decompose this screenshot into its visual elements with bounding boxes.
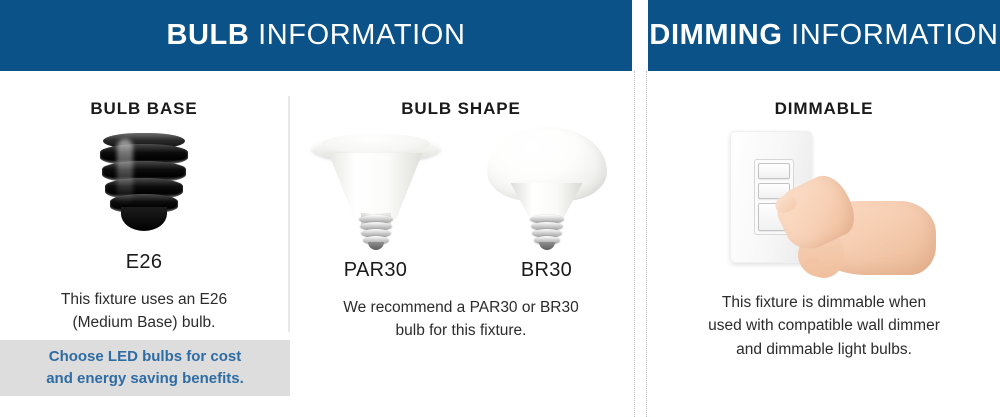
led-callout-line1: Choose LED bulbs for cost (20, 346, 270, 368)
par30-label: PAR30 (290, 259, 461, 282)
bulb-shape-description-line2: bulb for this fixture. (311, 319, 611, 342)
led-callout-line2: and energy saving benefits. (20, 368, 270, 390)
bulb-information-title-rest: INFORMATION (249, 19, 465, 51)
e26-screw-base-icon (0, 127, 288, 247)
bulb-base-description: This fixture uses an E26 (Medium Base) b… (24, 288, 264, 335)
bulb-information-title-strong: BULB (166, 19, 249, 51)
dimming-information-title-strong: DIMMING (649, 19, 782, 51)
bulb-shape-description: We recommend a PAR30 or BR30 bulb for th… (311, 296, 611, 343)
panel-separator-right (646, 71, 647, 417)
bulb-shape-heading: BULB SHAPE (290, 99, 632, 119)
bulb-base-description-line1: This fixture uses an E26 (24, 288, 264, 311)
bulb-base-label: E26 (0, 251, 288, 274)
bulb-base-description-line2: (Medium Base) bulb. (24, 311, 264, 334)
bulb-base-heading: BULB BASE (0, 99, 288, 119)
dimmable-description-line3: and dimmable light bulbs. (674, 338, 974, 361)
br30-bulb-icon (487, 127, 607, 253)
bulb-information-panel: BULB INFORMATION BULB BASE E26 This fixt… (0, 0, 632, 417)
br30-label: BR30 (461, 259, 632, 282)
dimmer-button-top[interactable] (758, 163, 790, 179)
bulb-shape-column: BULB SHAPE (290, 71, 632, 343)
dimmable-description-line2: used with compatible wall dimmer (674, 314, 974, 337)
bulb-information-title: BULB INFORMATION (166, 19, 465, 52)
bulb-base-column: BULB BASE E26 This fixture uses an E26 (… (0, 71, 288, 335)
hand-icon (776, 181, 936, 277)
dimming-information-header: DIMMING INFORMATION (648, 0, 1000, 71)
dimmable-column: DIMMABLE This fixture is dimmable when u… (648, 71, 1000, 361)
dimmable-description-line1: This fixture is dimmable when (674, 291, 974, 314)
led-callout-text: Choose LED bulbs for cost and energy sav… (20, 346, 270, 390)
par30-bulb-icon (311, 127, 441, 253)
bulb-shape-labels: PAR30 BR30 (290, 255, 632, 282)
dimmable-description: This fixture is dimmable when used with … (674, 291, 974, 361)
dimming-information-title-rest: INFORMATION (782, 19, 998, 51)
dimmable-heading: DIMMABLE (648, 99, 1000, 119)
bulb-shape-description-line1: We recommend a PAR30 or BR30 (311, 296, 611, 319)
dimming-information-title: DIMMING INFORMATION (649, 19, 998, 52)
wall-dimmer-switch-icon (648, 125, 1000, 277)
panel-separator-left (634, 71, 635, 417)
dimming-information-panel: DIMMING INFORMATION DIMMABLE This fixtur… (648, 0, 1000, 417)
bulb-shape-images (290, 123, 632, 253)
bulb-information-header: BULB INFORMATION (0, 0, 632, 71)
led-callout-box: Choose LED bulbs for cost and energy sav… (0, 340, 290, 396)
